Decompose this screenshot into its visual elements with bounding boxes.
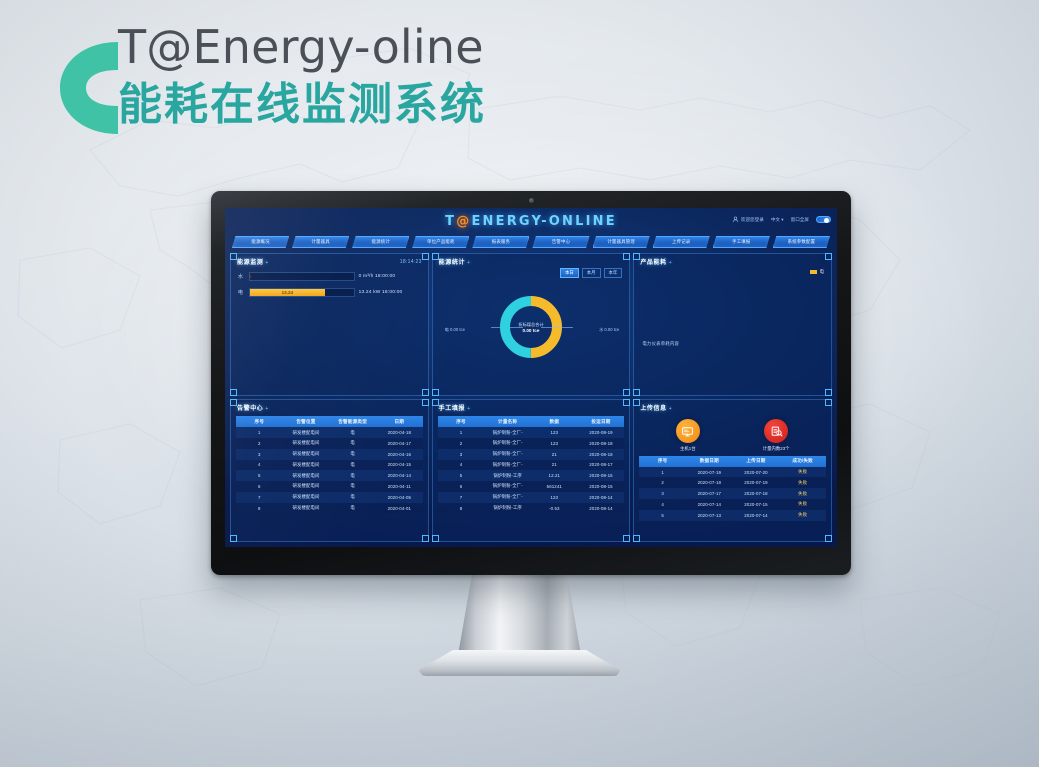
table-cell: 8 — [236, 503, 283, 514]
document-search-icon — [764, 419, 788, 443]
table-column-header: 告警位置 — [283, 416, 330, 427]
corner-decor — [825, 399, 832, 406]
table-cell: 研发楼配电间 — [283, 492, 330, 503]
corner-decor — [623, 399, 630, 406]
table-cell: 2020-04-01 — [376, 503, 423, 514]
panel-header: 告警中心+ — [231, 400, 428, 414]
table-cell: 锅炉制粉-全厂- — [484, 492, 531, 503]
donut-leader-line — [541, 327, 573, 328]
main-navigation: 能源概况 计量器具 能源统计 单位产品能耗 报表服务 告警中心 计量器具管理 上… — [225, 236, 837, 250]
panel-title-energy-stats: 能源统计+ — [439, 257, 471, 266]
table-column-header: 数据 — [531, 416, 578, 427]
table-column-header: 告警能源类型 — [329, 416, 376, 427]
panel-title-product-energy: 产品能耗+ — [640, 257, 672, 266]
corner-decor — [825, 253, 832, 260]
table-cell: 失败 — [779, 499, 826, 510]
table-row[interactable]: 32020-07-172020-07-18失败 — [639, 488, 826, 499]
table-cell: 2020-04-14 — [376, 470, 423, 481]
fullscreen-toggle[interactable] — [816, 216, 831, 223]
table-cell: -0.53 — [531, 503, 578, 514]
table-cell: 电 — [329, 460, 376, 471]
table-cell: 2020-04-17 — [376, 438, 423, 449]
panel-product-energy: 产品能耗+ 电 电力仪表单耗内容 — [633, 253, 832, 396]
table-cell: 研发楼配电间 — [283, 503, 330, 514]
table-cell: 561241 — [531, 481, 578, 492]
title-suffix: ENERGY-ONLINE — [471, 214, 616, 229]
table-cell: 锅炉制粉-全厂- — [484, 438, 531, 449]
table-cell: 2 — [438, 438, 485, 449]
expand-icon[interactable]: + — [265, 406, 269, 412]
nav-item-2[interactable]: 能源统计 — [352, 236, 409, 248]
panel-title-text: 上传信息 — [640, 406, 666, 412]
table-cell: 锅炉制粉-工序 — [484, 503, 531, 514]
energy-monitor-time: 18:14:23 — [400, 259, 422, 265]
nav-item-6[interactable]: 计量器具管理 — [593, 236, 650, 248]
energy-row-label: 电 — [238, 289, 245, 296]
corner-decor — [623, 253, 630, 260]
table-column-header: 数据日期 — [686, 456, 733, 467]
energy-bar-track: 0 — [249, 272, 355, 281]
table-cell: 锅炉制粉-工序 — [484, 470, 531, 481]
panel-energy-stats: 能源统计+ 本日 本月 本年 电 0.00 tce — [432, 253, 631, 396]
manual-table-wrapper[interactable]: 序号计量名称数据投运日期 1锅炉制粉-全厂-1232020-08-192锅炉制粉… — [433, 414, 630, 539]
table-cell: 123 — [531, 492, 578, 503]
energy-bar-fill: 13.24 — [250, 289, 325, 296]
legend-label: 电 — [820, 269, 824, 275]
table-row[interactable]: 52020-07-132020-07-14失败 — [639, 510, 826, 521]
alarm-table-wrapper[interactable]: 序号告警位置告警能源类型日期 1研发楼配电间电2020-04-182研发楼配电间… — [231, 414, 428, 539]
nav-item-7[interactable]: 上传记录 — [653, 236, 710, 248]
energy-bar-list: 水 0 0 m³/h 18:00:00 电 13.24 13.24 kW 1 — [231, 268, 428, 297]
table-row[interactable]: 8锅炉制粉-工序-0.532020-08-14 — [438, 503, 625, 514]
table-cell: 4 — [639, 499, 686, 510]
table-cell: 4 — [438, 460, 485, 471]
table-row[interactable]: 22020-07-182020-07-19失败 — [639, 477, 826, 488]
energy-row-value: 13.24 kW 18:00:00 — [359, 290, 421, 295]
donut-label-right: 水 0.00 tce — [599, 327, 619, 333]
upload-host-summary[interactable]: 主机1台 — [676, 419, 700, 452]
table-header-row: 序号数据日期上传日期成功/失败 — [639, 456, 826, 467]
table-row[interactable]: 8研发楼配电间电2020-04-01 — [236, 503, 423, 514]
energy-bar-value: 0 — [249, 274, 252, 279]
table-cell: 2020-08-15 — [578, 481, 625, 492]
user-menu[interactable]: 欢迎您登录 — [732, 216, 764, 223]
panel-title-text: 能源监测 — [237, 260, 263, 266]
table-cell: 研发楼配电间 — [283, 481, 330, 492]
panel-title-text: 手工填报 — [439, 406, 465, 412]
table-cell: 研发楼配电间 — [283, 460, 330, 471]
table-cell: 电 — [329, 438, 376, 449]
panel-header: 能源监测+ 18:14:23 — [231, 254, 428, 268]
corner-decor — [623, 535, 630, 542]
table-cell: 电 — [329, 503, 376, 514]
table-cell: 1 — [438, 427, 485, 438]
table-cell: 电 — [329, 470, 376, 481]
nav-item-8[interactable]: 手工填报 — [713, 236, 770, 248]
corner-decor — [825, 535, 832, 542]
table-column-header: 序号 — [639, 456, 686, 467]
table-row[interactable]: 5锅炉制粉-工序12.212020-08-15 — [438, 470, 625, 481]
table-cell: 2020-08-17 — [578, 460, 625, 471]
period-button-month[interactable]: 本月 — [582, 268, 601, 278]
corner-decor — [825, 389, 832, 396]
table-cell: 2020-07-15 — [733, 499, 780, 510]
header-right-controls: 欢迎您登录 中文 ▾ 窗口全屏 — [732, 216, 831, 223]
table-cell: 2020-08-19 — [578, 427, 625, 438]
table-cell: 2020-08-15 — [578, 470, 625, 481]
table-cell: 电 — [329, 449, 376, 460]
table-cell: 2020-08-18 — [578, 449, 625, 460]
nav-item-0[interactable]: 能源概况 — [232, 236, 289, 248]
table-cell: 2 — [639, 477, 686, 488]
corner-decor — [633, 535, 640, 542]
table-cell: 锅炉制粉-全厂- — [484, 449, 531, 460]
table-cell: 2020-07-17 — [686, 488, 733, 499]
upload-table: 序号数据日期上传日期成功/失败 12020-07-192020-07-20失败2… — [639, 456, 826, 521]
table-cell: 6 — [236, 481, 283, 492]
table-column-header: 序号 — [236, 416, 283, 427]
energy-bar-track: 13.24 — [249, 288, 355, 297]
corner-decor — [230, 389, 237, 396]
table-column-header: 成功/失败 — [779, 456, 826, 467]
expand-icon[interactable]: + — [467, 260, 471, 266]
table-cell: 12.21 — [531, 470, 578, 481]
panel-header: 能源统计+ — [433, 254, 630, 268]
brand-title-cn: 能耗在线监测系统 — [118, 82, 486, 128]
corner-decor — [432, 389, 439, 396]
expand-icon[interactable]: + — [669, 406, 673, 412]
table-cell: 电 — [329, 481, 376, 492]
table-cell: 失败 — [779, 467, 826, 478]
table-cell: 5 — [236, 470, 283, 481]
table-row[interactable]: 2锅炉制粉-全厂-1232020-08-18 — [438, 438, 625, 449]
nav-item-4[interactable]: 报表服务 — [472, 236, 529, 248]
product-energy-note: 电力仪表单耗内容 — [642, 341, 679, 347]
panel-title-text: 告警中心 — [237, 406, 263, 412]
expand-icon[interactable]: + — [265, 260, 269, 266]
table-row[interactable]: 7研发楼配电间电2020-04-05 — [236, 492, 423, 503]
upload-meter-summary[interactable]: 计量内数23个 — [763, 419, 790, 452]
table-row[interactable]: 4锅炉制粉-全厂-212020-08-17 — [438, 460, 625, 471]
table-cell: 锅炉制粉-全厂- — [484, 481, 531, 492]
table-cell: 2020-07-14 — [686, 499, 733, 510]
title-at-symbol: @ — [456, 214, 471, 229]
corner-decor — [422, 253, 429, 260]
table-cell: 5 — [438, 470, 485, 481]
upload-meter-label: 计量内数23个 — [763, 446, 790, 452]
dashboard-grid: 能源监测+ 18:14:23 水 0 0 m³/h 18:00:00 电 — [225, 250, 837, 547]
corner-decor — [623, 389, 630, 396]
table-column-header: 计量名称 — [484, 416, 531, 427]
table-cell: 2020-04-11 — [376, 481, 423, 492]
user-label: 欢迎您登录 — [741, 217, 764, 223]
period-button-day[interactable]: 本日 — [560, 268, 579, 278]
legend-swatch — [810, 270, 817, 274]
energy-bar-value: 13.24 — [282, 290, 294, 295]
panel-title-upload-info: 上传信息+ — [640, 403, 672, 412]
dashboard: T@ENERGY-ONLINE 欢迎您登录 中文 ▾ 窗口全屏 能源概况 计量器… — [225, 208, 837, 547]
table-cell: 失败 — [779, 477, 826, 488]
table-cell: 4 — [236, 460, 283, 471]
table-row[interactable]: 1锅炉制粉-全厂-1232020-08-19 — [438, 427, 625, 438]
upload-host-label: 主机1台 — [676, 446, 700, 452]
table-row[interactable]: 3锅炉制粉-全厂-212020-08-18 — [438, 449, 625, 460]
panel-energy-monitor: 能源监测+ 18:14:23 水 0 0 m³/h 18:00:00 电 — [230, 253, 429, 396]
corner-decor — [422, 399, 429, 406]
panel-alarm-center: 告警中心+ 序号告警位置告警能源类型日期 1研发楼配电间电2020-04-182… — [230, 399, 429, 542]
table-body: 1研发楼配电间电2020-04-182研发楼配电间电2020-04-173研发楼… — [236, 427, 423, 513]
corner-decor — [633, 399, 640, 406]
table-column-header: 日期 — [376, 416, 423, 427]
table-cell: 3 — [438, 449, 485, 460]
expand-icon[interactable]: + — [467, 406, 471, 412]
table-header-row: 序号告警位置告警能源类型日期 — [236, 416, 423, 427]
table-cell: 研发楼配电间 — [283, 470, 330, 481]
panel-title-text: 能源统计 — [439, 260, 465, 266]
table-cell: 2020-04-15 — [376, 460, 423, 471]
title-prefix: T — [445, 214, 456, 229]
table-cell: 失败 — [779, 488, 826, 499]
table-body: 1锅炉制粉-全厂-1232020-08-192锅炉制粉-全厂-1232020-0… — [438, 427, 625, 513]
corner-decor — [633, 253, 640, 260]
energy-row-electricity: 电 13.24 13.24 kW 18:00:00 — [238, 288, 421, 297]
panel-header: 上传信息+ — [634, 400, 831, 414]
table-cell: 研发楼配电间 — [283, 449, 330, 460]
nav-item-9[interactable]: 系统参数配置 — [773, 236, 830, 248]
table-cell: 2 — [236, 438, 283, 449]
energy-row-value: 0 m³/h 18:00:00 — [359, 274, 421, 279]
user-icon — [732, 216, 739, 223]
table-cell: 1 — [639, 467, 686, 478]
brand-block: T@Energy-oline 能耗在线监测系统 — [56, 24, 486, 128]
monitor: T@ENERGY-ONLINE 欢迎您登录 中文 ▾ 窗口全屏 能源概况 计量器… — [211, 191, 851, 575]
table-row[interactable]: 1研发楼配电间电2020-04-18 — [236, 427, 423, 438]
energy-row-water: 水 0 0 m³/h 18:00:00 — [238, 272, 421, 281]
table-cell: 2020-07-20 — [733, 467, 780, 478]
table-cell: 7 — [236, 492, 283, 503]
table-cell: 2020-08-18 — [578, 438, 625, 449]
table-cell: 2020-07-19 — [686, 467, 733, 478]
panel-title-alarm-center: 告警中心+ — [237, 403, 269, 412]
table-cell: 2020-07-18 — [686, 477, 733, 488]
table-cell: 21 — [531, 449, 578, 460]
table-cell: 3 — [639, 488, 686, 499]
table-body: 12020-07-192020-07-20失败22020-07-182020-0… — [639, 467, 826, 521]
table-cell: 21 — [531, 460, 578, 471]
energy-donut-chart: 电 0.00 tce 折标煤总合计 0.00 tce — [433, 278, 630, 376]
expand-icon[interactable]: + — [669, 260, 673, 266]
table-cell: 锅炉制粉-全厂- — [484, 460, 531, 471]
alarm-table: 序号告警位置告警能源类型日期 1研发楼配电间电2020-04-182研发楼配电间… — [236, 416, 423, 513]
monitor-stand-base — [419, 650, 621, 676]
table-row[interactable]: 2研发楼配电间电2020-04-17 — [236, 438, 423, 449]
table-row[interactable]: 7锅炉制粉-全厂-1232020-08-14 — [438, 492, 625, 503]
table-row[interactable]: 4研发楼配电间电2020-04-15 — [236, 460, 423, 471]
product-energy-legend: 电 — [634, 268, 831, 276]
corner-decor — [432, 253, 439, 260]
nav-item-5[interactable]: 告警中心 — [532, 236, 589, 248]
table-cell: 2020-04-18 — [376, 427, 423, 438]
donut-center-line2: 0.00 tce — [523, 328, 540, 333]
table-cell: 2020-07-13 — [686, 510, 733, 521]
upload-table-wrapper[interactable]: 序号数据日期上传日期成功/失败 12020-07-192020-07-20失败2… — [634, 454, 831, 521]
table-row[interactable]: 3研发楼配电间电2020-04-16 — [236, 449, 423, 460]
donut-label-left: 电 0.00 tce — [445, 327, 465, 333]
panel-header: 产品能耗+ — [634, 254, 831, 268]
table-row[interactable]: 5研发楼配电间电2020-04-14 — [236, 470, 423, 481]
table-cell: 6 — [438, 481, 485, 492]
table-cell: 失败 — [779, 510, 826, 521]
dashboard-header: T@ENERGY-ONLINE 欢迎您登录 中文 ▾ 窗口全屏 — [225, 208, 837, 236]
panel-title-manual-entry: 手工填报+ — [439, 403, 471, 412]
table-row[interactable]: 6锅炉制粉-全厂-5612412020-08-15 — [438, 481, 625, 492]
table-cell: 2020-04-05 — [376, 492, 423, 503]
corner-decor — [230, 535, 237, 542]
corner-decor — [230, 253, 237, 260]
monitor-stand-neck — [458, 572, 582, 658]
table-cell: 7 — [438, 492, 485, 503]
panel-title-text: 产品能耗 — [640, 260, 666, 266]
monitor-screen: T@ENERGY-ONLINE 欢迎您登录 中文 ▾ 窗口全屏 能源概况 计量器… — [225, 208, 837, 547]
period-segmented-control: 本日 本月 本年 — [433, 268, 630, 278]
table-row[interactable]: 42020-07-142020-07-15失败 — [639, 499, 826, 510]
period-button-year[interactable]: 本年 — [604, 268, 623, 278]
c-arc-logo-icon — [56, 36, 128, 140]
table-cell: 123 — [531, 438, 578, 449]
table-cell: 2020-07-14 — [733, 510, 780, 521]
corner-decor — [432, 535, 439, 542]
brand-title-en: T@Energy-oline — [118, 24, 486, 70]
table-cell: 3 — [236, 449, 283, 460]
manual-entry-table: 序号计量名称数据投运日期 1锅炉制粉-全厂-1232020-08-192锅炉制粉… — [438, 416, 625, 513]
nav-item-3[interactable]: 单位产品能耗 — [412, 236, 469, 248]
table-column-header: 投运日期 — [578, 416, 625, 427]
table-row[interactable]: 6研发楼配电间电2020-04-11 — [236, 481, 423, 492]
table-cell: 电 — [329, 427, 376, 438]
nav-item-1[interactable]: 计量器具 — [292, 236, 349, 248]
table-cell: 2020-07-19 — [733, 477, 780, 488]
table-cell: 1 — [236, 427, 283, 438]
fullscreen-label: 窗口全屏 — [791, 217, 809, 223]
corner-decor — [432, 399, 439, 406]
panel-header: 手工填报+ — [433, 400, 630, 414]
table-cell: 123 — [531, 427, 578, 438]
language-selector[interactable]: 中文 ▾ — [771, 217, 784, 223]
table-cell: 2020-04-16 — [376, 449, 423, 460]
panel-upload-info: 上传信息+ 主机1台 计量内数23 — [633, 399, 832, 542]
table-cell: 2020-08-14 — [578, 503, 625, 514]
upload-summary-icons: 主机1台 计量内数23个 — [634, 414, 831, 454]
table-cell: 2020-07-18 — [733, 488, 780, 499]
table-cell: 5 — [639, 510, 686, 521]
corner-decor — [230, 399, 237, 406]
table-cell: 锅炉制粉-全厂- — [484, 427, 531, 438]
table-cell: 研发楼配电间 — [283, 438, 330, 449]
panel-title-energy-monitor: 能源监测+ — [237, 257, 269, 266]
table-cell: 2020-08-14 — [578, 492, 625, 503]
corner-decor — [422, 535, 429, 542]
panel-manual-entry: 手工填报+ 序号计量名称数据投运日期 1锅炉制粉-全厂-1232020-08-1… — [432, 399, 631, 542]
table-cell: 研发楼配电间 — [283, 427, 330, 438]
energy-row-label: 水 — [238, 273, 245, 280]
table-cell: 8 — [438, 503, 485, 514]
corner-decor — [633, 389, 640, 396]
table-row[interactable]: 12020-07-192020-07-20失败 — [639, 467, 826, 478]
host-monitor-icon — [676, 419, 700, 443]
table-header-row: 序号计量名称数据投运日期 — [438, 416, 625, 427]
corner-decor — [422, 389, 429, 396]
table-column-header: 序号 — [438, 416, 485, 427]
table-column-header: 上传日期 — [733, 456, 780, 467]
table-cell: 电 — [329, 492, 376, 503]
